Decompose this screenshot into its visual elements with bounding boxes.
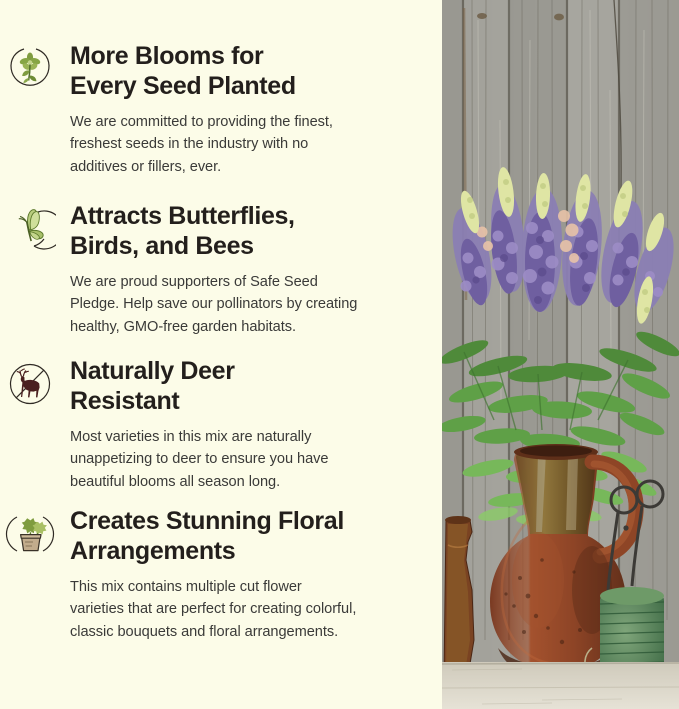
benefits-column: More Blooms for Every Seed Planted We ar… [0,0,442,709]
benefit-copy: Creates Stunning Floral Arrangements Thi… [70,506,430,643]
benefit-item-floral-arrangements: Creates Stunning Floral Arrangements Thi… [0,506,442,666]
benefit-copy: More Blooms for Every Seed Planted We ar… [70,41,430,178]
benefit-headline: Naturally Deer Resistant [70,356,430,417]
product-feature-panel: More Blooms for Every Seed Planted We ar… [0,0,679,709]
benefit-headline: More Blooms for Every Seed Planted [70,41,430,102]
benefit-item-deer-resistant: Naturally Deer Resistant Most varieties … [0,356,442,506]
benefit-headline: Attracts Butterflies, Birds, and Bees [70,201,430,262]
potted-plant-icon [4,508,56,560]
benefit-item-attracts-pollinators: Attracts Butterflies, Birds, and Bees We… [0,201,442,356]
benefit-item-more-blooms: More Blooms for Every Seed Planted We ar… [0,41,442,201]
benefit-copy: Naturally Deer Resistant Most varieties … [70,356,430,493]
no-deer-icon [4,358,56,410]
benefit-body: Most varieties in this mix are naturally… [70,426,430,494]
lupine-bouquet-photo [442,0,679,709]
butterfly-icon [4,203,56,255]
whitewashed-shelf [442,662,679,709]
benefit-headline: Creates Stunning Floral Arrangements [70,506,430,567]
product-photo [442,0,679,709]
benefit-body: We are committed to providing the finest… [70,111,430,179]
benefit-body: We are proud supporters of Safe Seed Ple… [70,271,430,339]
benefit-copy: Attracts Butterflies, Birds, and Bees We… [70,201,430,338]
benefit-body: This mix contains multiple cut flower va… [70,576,430,644]
flower-sprout-icon [4,43,56,95]
